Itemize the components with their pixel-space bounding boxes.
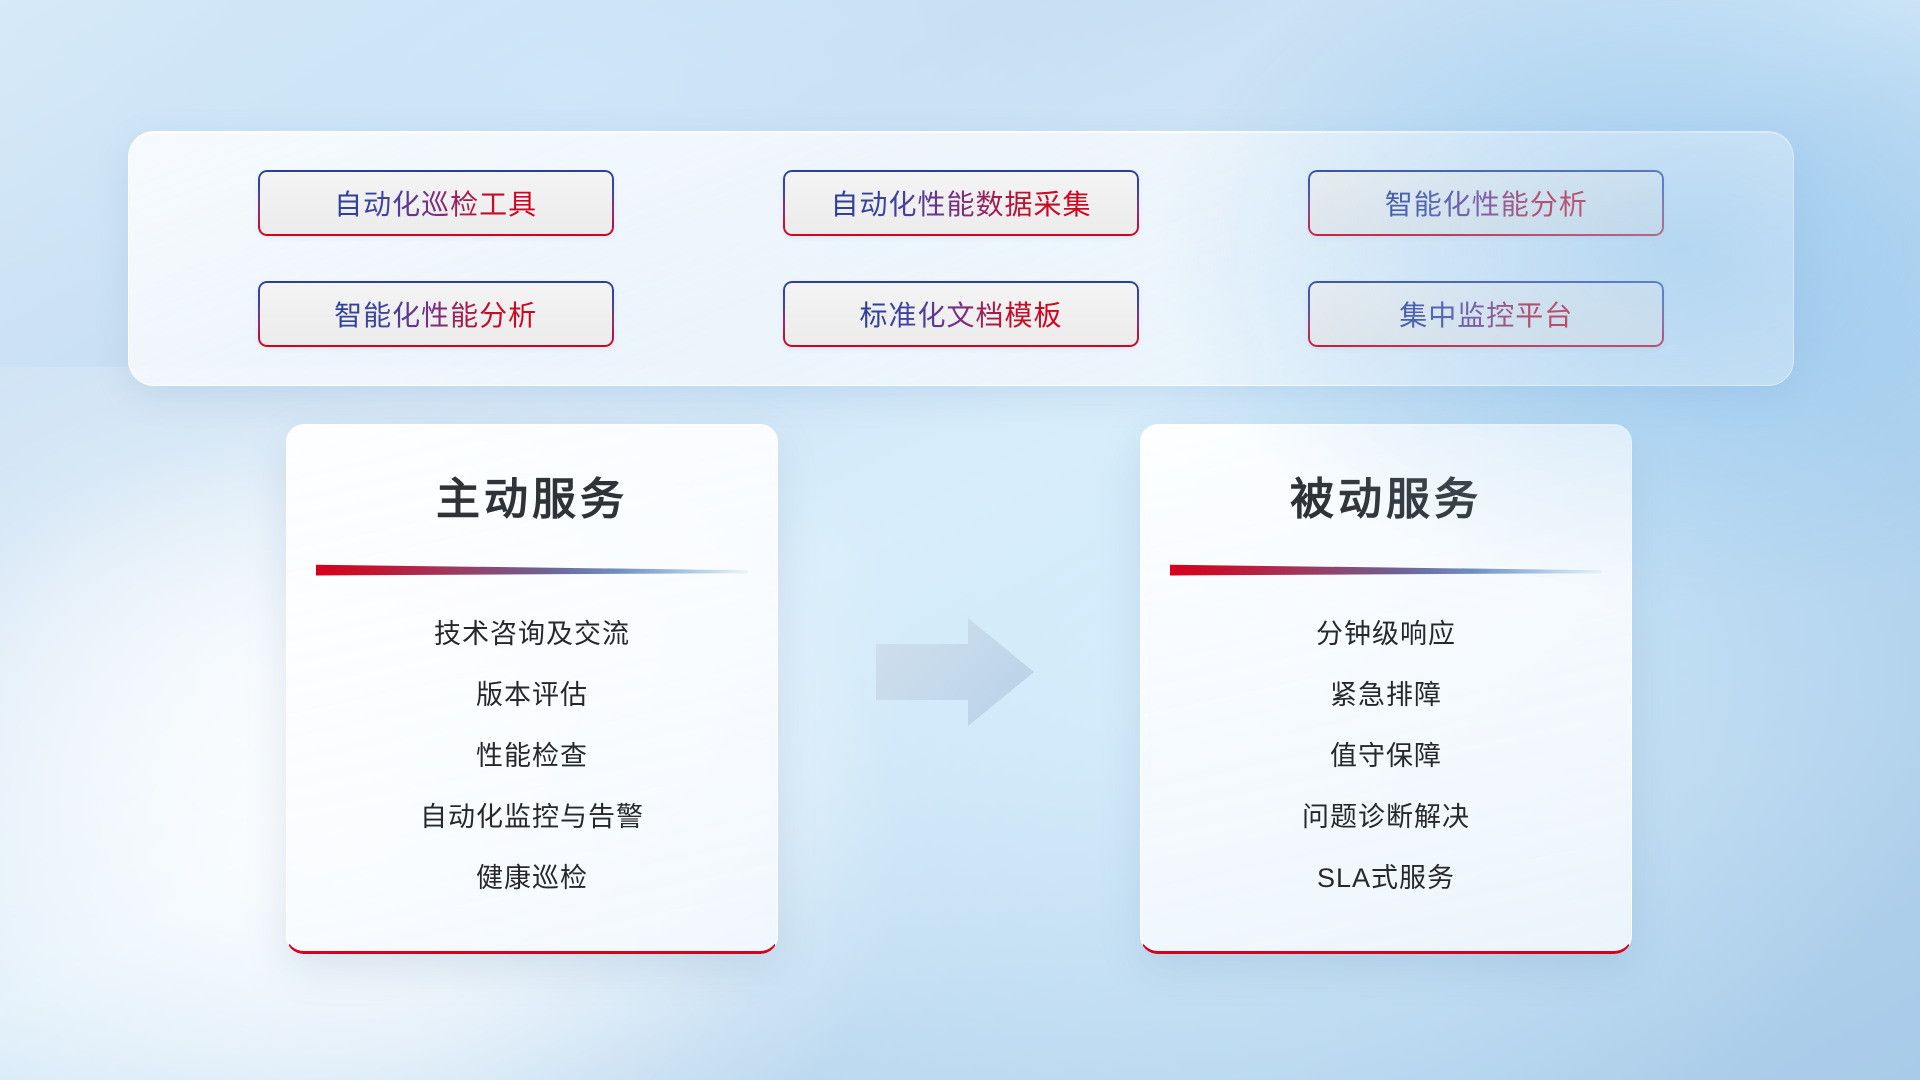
capability-pill-1[interactable]: 自动化巡检工具 <box>258 170 614 236</box>
card-divider <box>316 564 748 576</box>
slide-canvas: 自动化巡检工具 自动化性能数据采集 智能化性能分析 智能化性能分析 标准化文档模… <box>0 0 1920 1080</box>
list-item: 版本评估 <box>287 665 777 726</box>
service-item-list: 技术咨询及交流 版本评估 性能检查 自动化监控与告警 健康巡检 <box>287 604 777 909</box>
capability-pill-4[interactable]: 智能化性能分析 <box>258 281 614 347</box>
service-card-reactive[interactable]: 被动服务 分钟级响应 紧急排障 值守保障 问题诊断解决 SLA式服务 <box>1140 424 1632 954</box>
list-item: 技术咨询及交流 <box>287 604 777 665</box>
capability-pill-label: 标准化文档模板 <box>859 294 1062 334</box>
capability-pill-label: 智能化性能分析 <box>1385 183 1588 223</box>
list-item: 分钟级响应 <box>1141 604 1631 665</box>
capability-pill-5[interactable]: 标准化文档模板 <box>783 281 1139 347</box>
list-item: 值守保障 <box>1141 726 1631 787</box>
list-item: 紧急排障 <box>1141 665 1631 726</box>
capability-pill-label: 自动化巡检工具 <box>334 183 537 223</box>
card-divider <box>1170 564 1602 576</box>
capability-pill-label: 自动化性能数据采集 <box>830 183 1091 223</box>
list-item: 问题诊断解决 <box>1141 787 1631 848</box>
service-card-proactive[interactable]: 主动服务 技术咨询及交流 版本评估 性能检查 自动化监控与告警 健康巡检 <box>286 424 778 954</box>
capability-pill-3[interactable]: 智能化性能分析 <box>1308 170 1664 236</box>
right-arrow-icon <box>872 614 1038 730</box>
capability-pill-label: 智能化性能分析 <box>334 294 537 334</box>
list-item: SLA式服务 <box>1141 848 1631 909</box>
list-item: 自动化监控与告警 <box>287 787 777 848</box>
capability-pill-6[interactable]: 集中监控平台 <box>1308 281 1664 347</box>
capability-pill-grid: 自动化巡检工具 自动化性能数据采集 智能化性能分析 智能化性能分析 标准化文档模… <box>129 132 1793 385</box>
list-item: 健康巡检 <box>287 848 777 909</box>
capability-pill-2[interactable]: 自动化性能数据采集 <box>783 170 1139 236</box>
capability-pill-label: 集中监控平台 <box>1399 294 1573 334</box>
list-item: 性能检查 <box>287 726 777 787</box>
service-card-title: 被动服务 <box>1141 463 1631 527</box>
service-card-title: 主动服务 <box>287 463 777 527</box>
capability-panel: 自动化巡检工具 自动化性能数据采集 智能化性能分析 智能化性能分析 标准化文档模… <box>128 131 1794 386</box>
service-item-list: 分钟级响应 紧急排障 值守保障 问题诊断解决 SLA式服务 <box>1141 604 1631 909</box>
